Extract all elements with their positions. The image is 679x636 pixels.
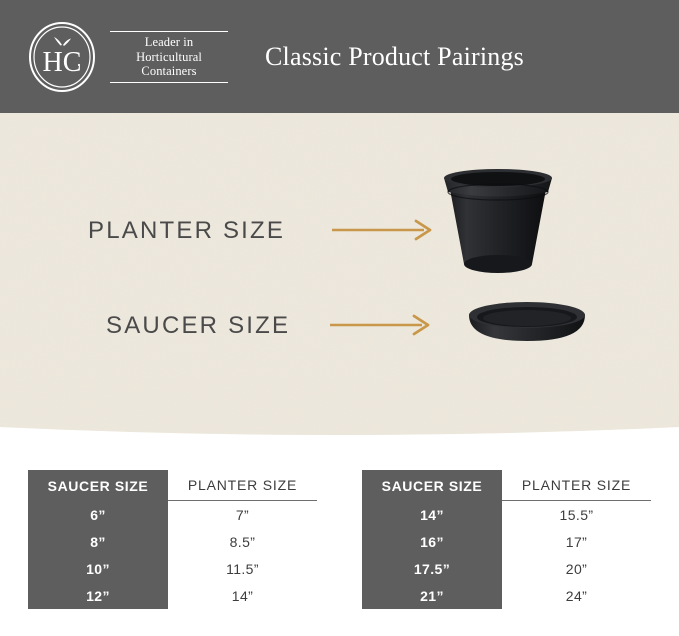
table-row: 14” 15.5” (362, 501, 651, 528)
column-header-saucer-size: SAUCER SIZE (28, 470, 168, 501)
table-row: 17.5” 20” (362, 555, 651, 582)
black-saucer-tray (465, 301, 589, 352)
size-table-large: SAUCER SIZE PLANTER SIZE 14” 15.5” 16” 1… (362, 470, 651, 609)
table-row: 12” 14” (28, 582, 317, 609)
brand-logo: HC Leader in Horticultural Containers (26, 21, 228, 93)
cell-saucer-size: 21” (362, 582, 502, 609)
cell-planter-size: 8.5” (168, 528, 317, 555)
page-header: HC Leader in Horticultural Containers Cl… (0, 0, 679, 113)
column-header-planter-size: PLANTER SIZE (502, 470, 651, 501)
black-planter-pot (442, 168, 554, 283)
planter-arrow-icon (332, 219, 436, 241)
table-body: 14” 15.5” 16” 17” 17.5” 20” 21” 24” (362, 501, 651, 609)
table-row: 10” 11.5” (28, 555, 317, 582)
planter-size-label: PLANTER SIZE (88, 217, 285, 245)
cell-saucer-size: 12” (28, 582, 168, 609)
table-row: 8” 8.5” (28, 528, 317, 555)
cell-planter-size: 20” (502, 555, 651, 582)
size-chart-tables: SAUCER SIZE PLANTER SIZE 6” 7” 8” 8.5” 1… (0, 470, 679, 636)
saucer-size-label: SAUCER SIZE (106, 312, 290, 340)
svg-text:HC: HC (43, 47, 82, 78)
table-row: 16” 17” (362, 528, 651, 555)
cell-planter-size: 24” (502, 582, 651, 609)
cell-planter-size: 7” (168, 501, 317, 528)
tagline-line-2: Horticultural (112, 50, 226, 65)
cell-planter-size: 15.5” (502, 501, 651, 528)
tagline-line-3: Containers (112, 64, 226, 79)
tagline-line-1: Leader in (112, 35, 226, 50)
table-row: 21” 24” (362, 582, 651, 609)
cell-planter-size: 17” (502, 528, 651, 555)
hc-circle-leaf-logo: HC (26, 21, 98, 93)
table-body: 6” 7” 8” 8.5” 10” 11.5” 12” 14” (28, 501, 317, 609)
cell-planter-size: 14” (168, 582, 317, 609)
saucer-arrow-icon (330, 314, 434, 336)
cell-saucer-size: 10” (28, 555, 168, 582)
cell-saucer-size: 17.5” (362, 555, 502, 582)
cell-planter-size: 11.5” (168, 555, 317, 582)
size-table-small: SAUCER SIZE PLANTER SIZE 6” 7” 8” 8.5” 1… (28, 470, 317, 609)
table-row: 6” 7” (28, 501, 317, 528)
product-panel: PLANTER SIZE SAUCER SIZE (0, 113, 679, 443)
cell-saucer-size: 16” (362, 528, 502, 555)
cell-saucer-size: 8” (28, 528, 168, 555)
cell-saucer-size: 6” (28, 501, 168, 528)
column-header-saucer-size: SAUCER SIZE (362, 470, 502, 501)
table-header-row: SAUCER SIZE PLANTER SIZE (28, 470, 317, 501)
table-header-row: SAUCER SIZE PLANTER SIZE (362, 470, 651, 501)
column-header-planter-size: PLANTER SIZE (168, 470, 317, 501)
brand-tagline: Leader in Horticultural Containers (110, 31, 228, 83)
cell-saucer-size: 14” (362, 501, 502, 528)
